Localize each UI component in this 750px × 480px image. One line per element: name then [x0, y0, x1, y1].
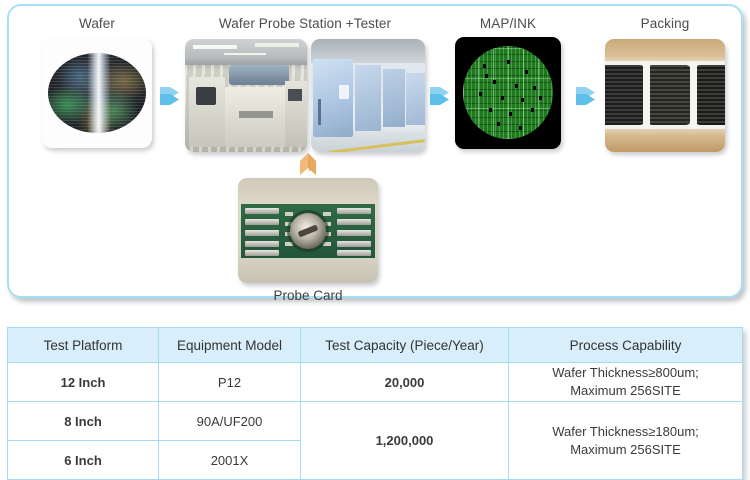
spec-table-container: Test Platform Equipment Model Test Capac…	[7, 327, 743, 480]
process-flow-panel: Wafer Wafer Probe Station +Tester MAP/IN…	[7, 4, 743, 298]
spec-table: Test Platform Equipment Model Test Capac…	[7, 327, 743, 480]
cell-platform-12inch: 12 Inch	[8, 363, 159, 402]
probe-card-caption: Probe Card	[238, 288, 378, 303]
column-header-test-platform: Test Platform	[8, 328, 159, 363]
map-defect-dots	[463, 46, 553, 139]
cell-model-2001x: 2001X	[159, 441, 301, 480]
cell-capacity-1200000: 1,200,000	[301, 402, 509, 480]
probe-card-photo	[238, 178, 378, 283]
column-header-test-capacity: Test Capacity (Piece/Year)	[301, 328, 509, 363]
column-header-equipment-model: Equipment Model	[159, 328, 301, 363]
packing-photo	[605, 39, 725, 152]
stage-title-packing: Packing	[605, 16, 725, 31]
stage-title-wafer: Wafer	[42, 16, 152, 31]
stage-title-map-ink: MAP/INK	[455, 16, 561, 31]
wafer-photo	[42, 38, 152, 148]
cell-platform-8inch: 8 Inch	[8, 402, 159, 441]
chevron-right-arrow-icon-2	[429, 86, 455, 106]
stage-title-probe-station: Wafer Probe Station +Tester	[185, 16, 425, 31]
cell-capability-180um: Wafer Thickness≥180um; Maximum 256SITE	[509, 402, 743, 480]
capability-line-2: Maximum 256SITE	[570, 442, 681, 457]
table-header-row: Test Platform Equipment Model Test Capac…	[8, 328, 743, 363]
capability-line-1: Wafer Thickness≥800um;	[552, 365, 699, 380]
table-row: 12 Inch P12 20,000 Wafer Thickness≥800um…	[8, 363, 743, 402]
column-header-process-capability: Process Capability	[509, 328, 743, 363]
chevron-right-arrow-icon-1	[159, 86, 185, 106]
cell-model-90a-uf200: 90A/UF200	[159, 402, 301, 441]
probe-station-photo	[185, 39, 307, 152]
tester-photo	[311, 39, 425, 152]
map-ink-photo	[455, 37, 561, 149]
capability-line-2: Maximum 256SITE	[570, 383, 681, 398]
chevron-right-arrow-icon-3	[575, 86, 601, 106]
chevron-up-arrow-icon	[299, 152, 317, 176]
cell-model-p12: P12	[159, 363, 301, 402]
cell-capacity-20000: 20,000	[301, 363, 509, 402]
cell-platform-6inch: 6 Inch	[8, 441, 159, 480]
capability-line-1: Wafer Thickness≥180um;	[552, 424, 699, 439]
table-row: 8 Inch 90A/UF200 1,200,000 Wafer Thickne…	[8, 402, 743, 441]
wafer-disc-graphic	[48, 53, 146, 133]
cell-capability-800um: Wafer Thickness≥800um; Maximum 256SITE	[509, 363, 743, 402]
